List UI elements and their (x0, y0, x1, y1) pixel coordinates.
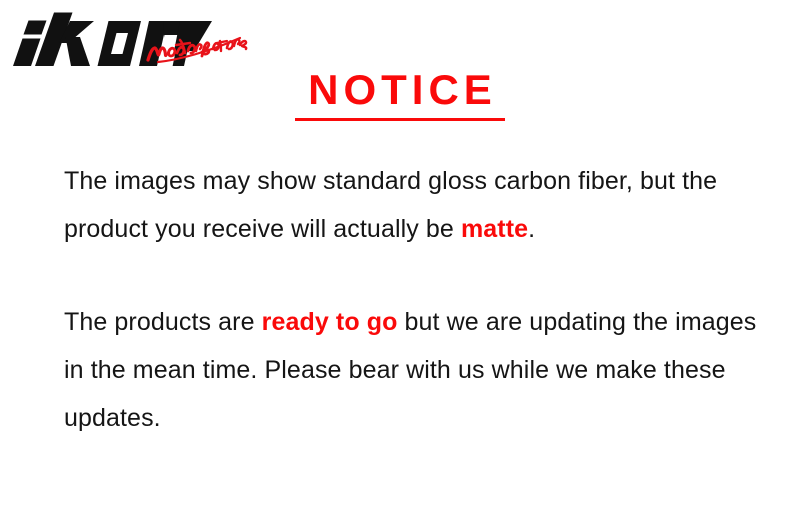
notice-paragraph-2: The products are ready to go but we are … (64, 298, 764, 442)
brand-logo (8, 4, 258, 70)
notice-paragraph-1: The images may show standard gloss carbo… (64, 157, 764, 253)
paragraph-1-emphasis-matte: matte (461, 215, 528, 243)
paragraph-1-segment-1: The images may show standard gloss carbo… (64, 167, 717, 243)
title-underline-rule (295, 118, 505, 121)
notice-body: The images may show standard gloss carbo… (64, 157, 764, 442)
ikon-motorsports-logo-icon (8, 4, 258, 70)
notice-heading-block: NOTICE (0, 66, 800, 121)
paragraph-2-emphasis-ready-to-go: ready to go (262, 308, 398, 336)
page-title: NOTICE (303, 66, 497, 114)
notice-page: NOTICE The images may show standard glos… (0, 0, 800, 510)
paragraph-1-segment-3: . (528, 215, 535, 243)
paragraph-2-segment-1: The products are (64, 308, 262, 336)
